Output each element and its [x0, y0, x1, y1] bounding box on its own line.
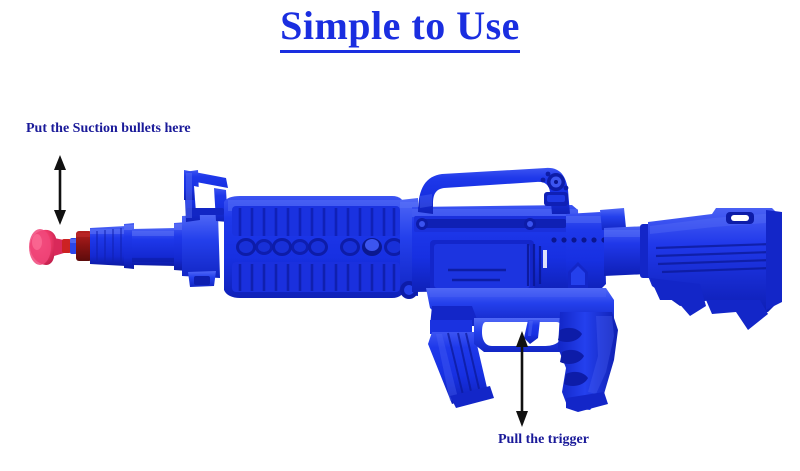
buffer-tube — [604, 224, 652, 278]
pistol-grip — [558, 312, 618, 412]
ejection-port — [430, 240, 547, 292]
double-headed-vertical-arrow-muzzle — [44, 154, 76, 226]
handguard-vents — [236, 238, 404, 256]
buttstock — [648, 208, 782, 330]
front-sight — [182, 170, 228, 287]
handguard — [224, 196, 404, 298]
suction-dart-part — [29, 229, 77, 265]
barrel-tip — [76, 231, 92, 261]
toy-gun-illustration — [0, 0, 800, 471]
double-headed-vertical-arrow-trigger — [506, 330, 538, 428]
callout-label-trigger: Pull the trigger — [498, 432, 589, 448]
screenshot-canvas: Simple to Use — [0, 0, 800, 471]
callout-label-muzzle: Put the Suction bullets here — [26, 121, 191, 137]
